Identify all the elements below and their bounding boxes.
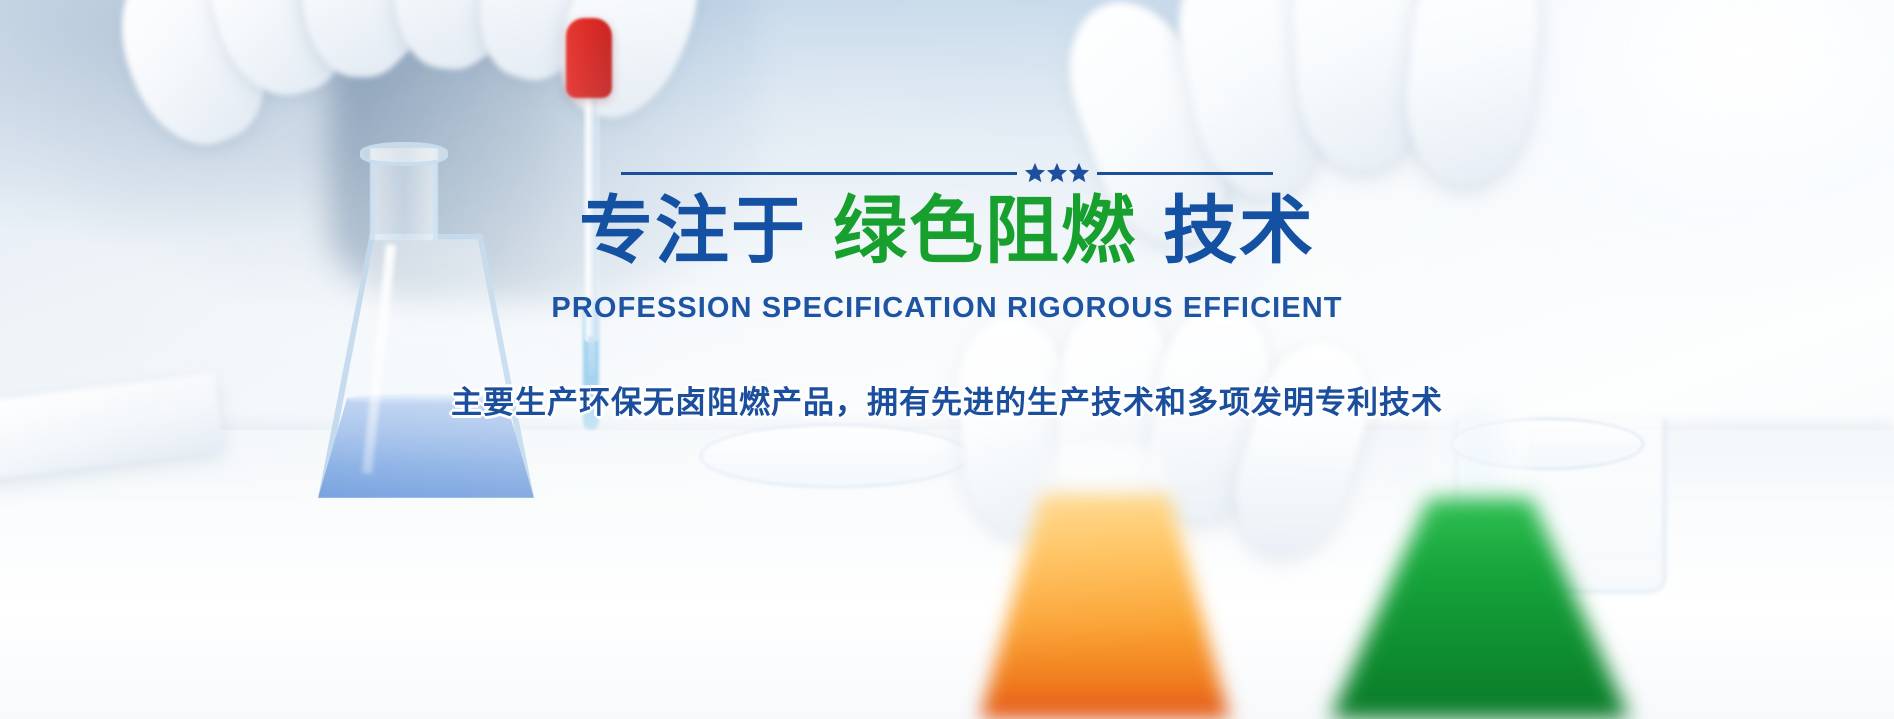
hero-banner: 专注于绿色阻燃技术 PROFESSION SPECIFICATION RIGOR… (0, 0, 1894, 719)
divider-rule-right (1097, 172, 1273, 175)
subtitle-english: PROFESSION SPECIFICATION RIGOROUS EFFICI… (0, 292, 1894, 325)
banner-content: 专注于绿色阻燃技术 PROFESSION SPECIFICATION RIGOR… (0, 160, 1894, 422)
headline-part-1: 专注于 (579, 189, 807, 272)
star-divider (621, 160, 1273, 186)
headline-part-2: 绿色阻燃 (833, 189, 1137, 272)
headline-part-3: 技术 (1163, 189, 1315, 272)
divider-rule-left (621, 172, 1017, 175)
subtitle-chinese: 主要生产环保无卤阻燃产品，拥有先进的生产技术和多项发明专利技术 (0, 377, 1894, 422)
page-title: 专注于绿色阻燃技术 (0, 192, 1894, 270)
